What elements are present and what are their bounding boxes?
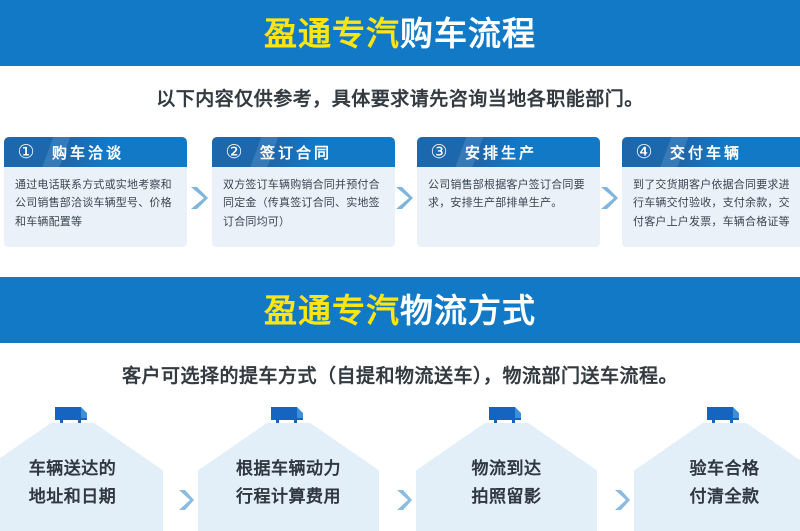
chevron-right-icon-3	[598, 185, 620, 211]
logistics-steps-row: 车辆送达的 地址和日期 根据车辆动力 行程计算费用	[0, 404, 800, 531]
logistics-card-3[interactable]: 物流到达 拍照留影	[416, 404, 597, 531]
step-4-header: ④ 交付车辆	[622, 137, 800, 167]
logistics-card-1[interactable]: 车辆送达的 地址和日期	[0, 404, 163, 531]
purchase-banner-title: 盈通专汽购车流程	[264, 17, 536, 50]
logistics-card-1-line1: 车辆送达的	[0, 456, 163, 484]
logistics-card-1-line2: 地址和日期	[0, 484, 163, 512]
step-3-header: ③ 安排生产	[417, 137, 600, 167]
logistics-card-2-line1: 根据车辆动力	[198, 456, 379, 484]
step-1-header: ① 购车洽谈	[4, 137, 187, 167]
logistics-card-2-line2: 行程计算费用	[198, 484, 379, 512]
logistics-card-2-text: 根据车辆动力 行程计算费用	[198, 456, 379, 511]
step-card-2[interactable]: ② 签订合同 双方签订车辆购销合同并预付合同定金（传真签订合同、实地签订合同均可…	[212, 137, 395, 247]
logistics-card-4[interactable]: 验车合格 付清全款	[634, 404, 800, 531]
step-3-body: 公司销售部根据客户签订合同要求，安排生产部排单生产。	[417, 167, 600, 213]
step-1-number: ①	[4, 143, 48, 162]
chevron-right-icon-2	[393, 185, 415, 211]
step-2-number: ②	[212, 143, 256, 162]
logistics-banner-title: 盈通专汽物流方式	[264, 294, 536, 327]
truck-icon-3	[485, 404, 529, 426]
step-3-label: 安排生产	[465, 142, 537, 163]
chevron-right-icon-l3	[612, 488, 632, 512]
logistics-banner: 盈通专汽物流方式	[0, 277, 800, 343]
brand-name: 盈通专汽	[264, 14, 400, 53]
purchase-banner-suffix: 购车流程	[400, 14, 536, 53]
logistics-card-4-line2: 付清全款	[634, 484, 800, 512]
truck-icon-2	[267, 404, 311, 426]
step-4-number: ④	[622, 143, 666, 162]
logistics-card-2[interactable]: 根据车辆动力 行程计算费用	[198, 404, 379, 531]
step-4-label: 交付车辆	[670, 142, 742, 163]
step-2-header: ② 签订合同	[212, 137, 395, 167]
step-2-body: 双方签订车辆购销合同并预付合同定金（传真签订合同、实地签订合同均可）	[212, 167, 395, 231]
truck-icon-1	[51, 404, 95, 426]
logistics-card-4-text: 验车合格 付清全款	[634, 456, 800, 511]
step-2-label: 签订合同	[260, 142, 332, 163]
logistics-card-4-line1: 验车合格	[634, 456, 800, 484]
chevron-right-icon-1	[188, 185, 210, 211]
chevron-right-icon-l2	[394, 488, 414, 512]
purchase-banner: 盈通专汽购车流程	[0, 0, 800, 66]
logistics-subtitle: 客户可选择的提车方式（自提和物流送车），物流部门送车流程。	[0, 361, 800, 388]
step-card-3[interactable]: ③ 安排生产 公司销售部根据客户签订合同要求，安排生产部排单生产。	[417, 137, 600, 247]
chevron-right-icon-l1	[176, 488, 196, 512]
step-1-body: 通过电话联系方式或实地考察和公司销售部洽谈车辆型号、价格和车辆配置等	[4, 167, 187, 231]
logistics-card-3-text: 物流到达 拍照留影	[416, 456, 597, 511]
step-4-body: 到了交货期客户依据合同要求进行车辆交付验收，支付余款，交付客户上户发票，车辆合格…	[622, 167, 800, 231]
brand-name-2: 盈通专汽	[264, 291, 400, 330]
step-card-1[interactable]: ① 购车洽谈 通过电话联系方式或实地考察和公司销售部洽谈车辆型号、价格和车辆配置…	[4, 137, 187, 247]
purchase-steps-row: ① 购车洽谈 通过电话联系方式或实地考察和公司销售部洽谈车辆型号、价格和车辆配置…	[0, 137, 800, 249]
purchase-subtitle: 以下内容仅供参考，具体要求请先咨询当地各职能部门。	[0, 84, 800, 111]
truck-icon-4	[703, 404, 747, 426]
logistics-card-3-line2: 拍照留影	[416, 484, 597, 512]
infographic-page: 盈通专汽购车流程 以下内容仅供参考，具体要求请先咨询当地各职能部门。 ① 购车洽…	[0, 0, 800, 531]
step-card-4[interactable]: ④ 交付车辆 到了交货期客户依据合同要求进行车辆交付验收，支付余款，交付客户上户…	[622, 137, 800, 247]
step-3-number: ③	[417, 143, 461, 162]
logistics-card-1-text: 车辆送达的 地址和日期	[0, 456, 163, 511]
logistics-card-3-line1: 物流到达	[416, 456, 597, 484]
step-1-label: 购车洽谈	[52, 142, 124, 163]
logistics-banner-suffix: 物流方式	[400, 291, 536, 330]
